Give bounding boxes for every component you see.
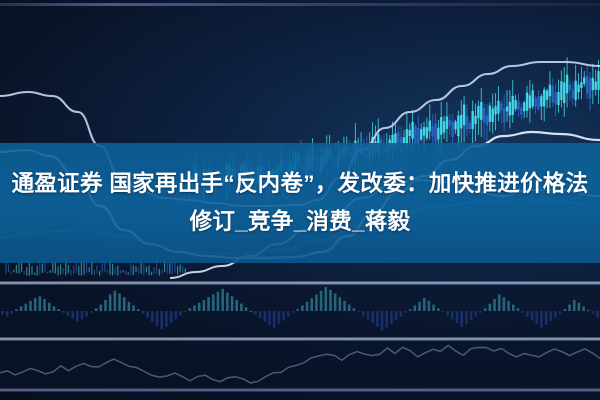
panel-divider-top xyxy=(0,281,600,285)
indicator-panel xyxy=(0,341,600,388)
panel-divider-middle xyxy=(0,337,600,341)
screenshot-root: 通盈证券 国家再出手“反内卷”，发改委：加快推进价格法修订_竞争_消费_蒋毅 xyxy=(0,0,600,400)
histogram-panel xyxy=(0,285,600,337)
top-divider xyxy=(0,3,600,6)
panel-divider-bottom xyxy=(0,388,600,392)
headline-title: 通盈证券 国家再出手“反内卷”，发改委：加快推进价格法修订_竞争_消费_蒋毅 xyxy=(0,143,600,263)
